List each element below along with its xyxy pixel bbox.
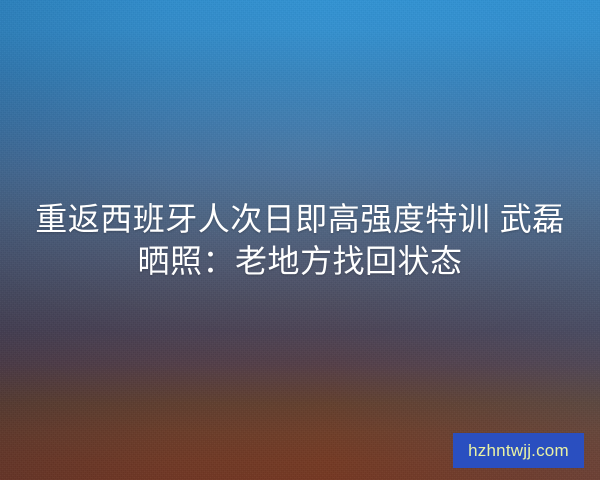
watermark-badge: hzhntwjj.com bbox=[453, 433, 584, 468]
headline-text: 重返西班牙人次日即高强度特训 武磊晒照：老地方找回状态 bbox=[0, 198, 600, 282]
image-card: 重返西班牙人次日即高强度特训 武磊晒照：老地方找回状态 hzhntwjj.com bbox=[0, 0, 600, 480]
watermark-label: hzhntwjj.com bbox=[468, 442, 569, 459]
